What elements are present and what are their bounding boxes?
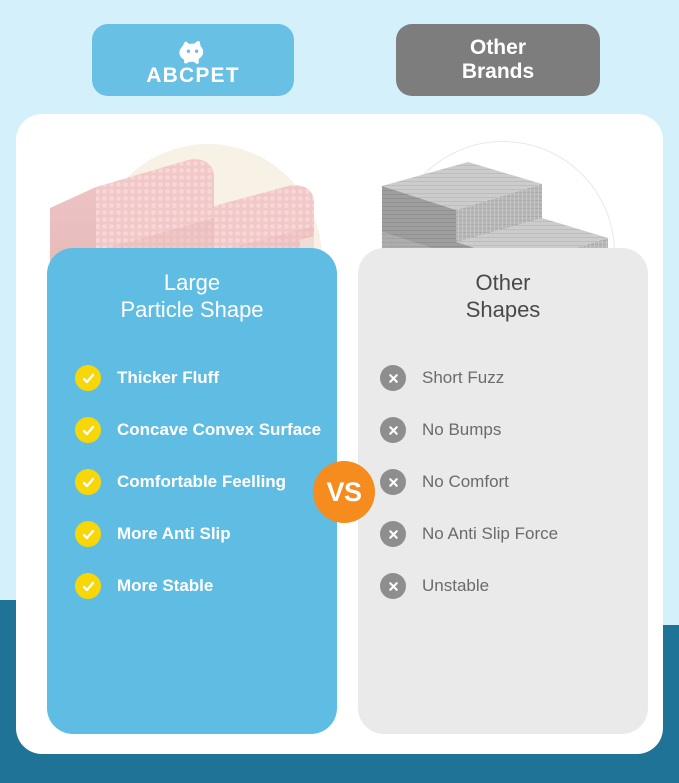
brand-wordmark: ABCPET bbox=[146, 65, 240, 86]
check-icon bbox=[75, 417, 101, 443]
panel-abcpet-title-line2: Particle Shape bbox=[47, 297, 337, 324]
list-item: No Comfort bbox=[358, 456, 648, 508]
other-brands-line2: Brands bbox=[462, 60, 534, 84]
list-item: More Anti Slip bbox=[47, 508, 337, 560]
check-icon bbox=[75, 521, 101, 547]
vs-badge: VS bbox=[313, 461, 375, 523]
list-item: Thicker Fluff bbox=[47, 352, 337, 404]
check-icon bbox=[75, 573, 101, 599]
pet-head-icon bbox=[177, 40, 209, 64]
header: ABCPET Other Brands bbox=[0, 24, 679, 98]
abcpet-feature-list: Thicker Fluff Concave Convex Surface Com… bbox=[47, 352, 337, 612]
comparison-infographic: ABCPET Other Brands bbox=[0, 0, 679, 783]
feature-label: Concave Convex Surface bbox=[117, 420, 321, 440]
cross-icon bbox=[380, 469, 406, 495]
panel-other-brands-title-line1: Other bbox=[358, 270, 648, 297]
feature-label: More Anti Slip bbox=[117, 524, 231, 544]
list-item: No Bumps bbox=[358, 404, 648, 456]
panel-other-brands: Other Shapes Short Fuzz No Bumps bbox=[358, 248, 648, 734]
feature-label: More Stable bbox=[117, 576, 213, 596]
brand-badge: ABCPET bbox=[92, 24, 294, 96]
panel-other-brands-title-line2: Shapes bbox=[358, 297, 648, 324]
list-item: Concave Convex Surface bbox=[47, 404, 337, 456]
list-item: No Anti Slip Force bbox=[358, 508, 648, 560]
vs-label: VS bbox=[326, 477, 361, 508]
cross-icon bbox=[380, 417, 406, 443]
other-brands-line1: Other bbox=[470, 36, 526, 60]
other-brands-badge: Other Brands bbox=[396, 24, 600, 96]
check-icon bbox=[75, 365, 101, 391]
feature-label: No Comfort bbox=[422, 472, 509, 492]
cross-icon bbox=[380, 521, 406, 547]
content-card: Large Particle Shape Thicker Fluff Conca… bbox=[16, 114, 663, 754]
feature-label: No Anti Slip Force bbox=[422, 524, 558, 544]
check-icon bbox=[75, 469, 101, 495]
cross-icon bbox=[380, 365, 406, 391]
feature-label: Short Fuzz bbox=[422, 368, 504, 388]
panel-abcpet-title: Large Particle Shape bbox=[47, 248, 337, 324]
other-brands-feature-list: Short Fuzz No Bumps No Comfort bbox=[358, 352, 648, 612]
panel-other-brands-title: Other Shapes bbox=[358, 248, 648, 324]
list-item: Comfortable Feelling bbox=[47, 456, 337, 508]
panel-abcpet-title-line1: Large bbox=[47, 270, 337, 297]
cross-icon bbox=[380, 573, 406, 599]
feature-label: No Bumps bbox=[422, 420, 501, 440]
list-item: Unstable bbox=[358, 560, 648, 612]
feature-label: Unstable bbox=[422, 576, 489, 596]
feature-label: Thicker Fluff bbox=[117, 368, 219, 388]
list-item: More Stable bbox=[47, 560, 337, 612]
list-item: Short Fuzz bbox=[358, 352, 648, 404]
feature-label: Comfortable Feelling bbox=[117, 472, 286, 492]
panel-abcpet: Large Particle Shape Thicker Fluff Conca… bbox=[47, 248, 337, 734]
